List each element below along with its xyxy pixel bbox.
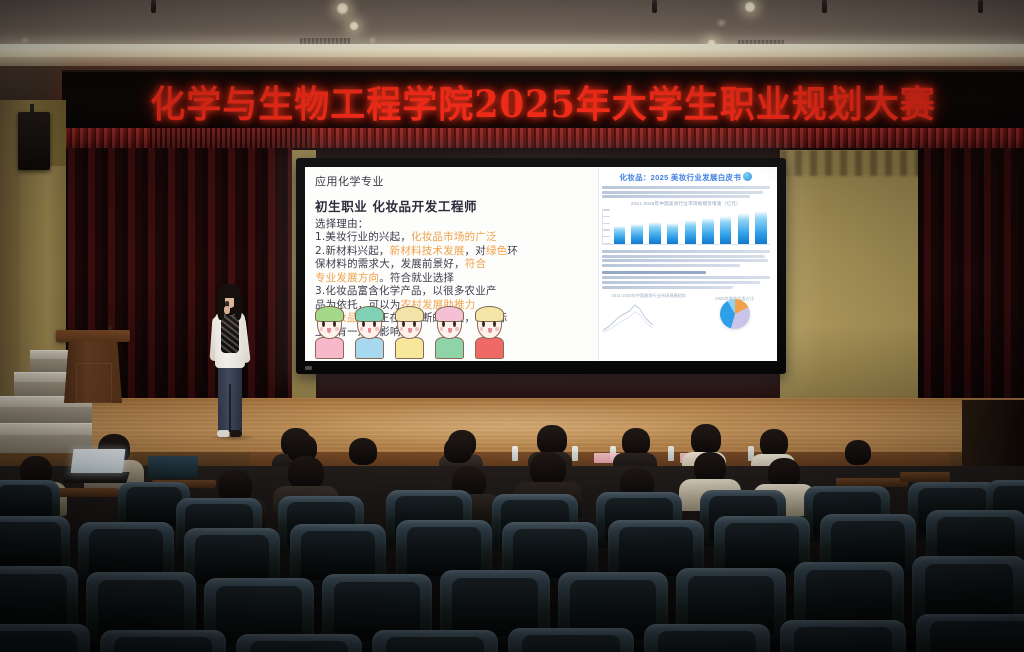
ceiling-cornice bbox=[0, 57, 1024, 66]
lectern-top bbox=[56, 330, 130, 342]
sprinkler-icon bbox=[151, 0, 156, 13]
bar-chart bbox=[602, 209, 770, 245]
wall-speaker bbox=[18, 112, 50, 170]
auditorium-seat[interactable] bbox=[780, 620, 906, 652]
cartoon-kid-green bbox=[433, 307, 466, 359]
stage-curtain-right bbox=[918, 148, 1024, 400]
sprinkler-icon bbox=[822, 0, 827, 13]
bar-2018 bbox=[631, 224, 643, 244]
slide-content: 应用化学专业 初生职业 化妆品开发工程师 选择理由： 1.美妆行业的兴起，化妆品… bbox=[305, 167, 777, 361]
slide-bullet-5: 3.化妆品富含化学产品，以很多农业产 bbox=[315, 285, 594, 298]
report-title: 化妆品：2025 美妆行业发展白皮书 bbox=[602, 172, 770, 183]
person-head bbox=[349, 438, 377, 465]
bullet-4-highlight: 专业发展方向 bbox=[315, 272, 379, 284]
display-indicator-led bbox=[305, 366, 312, 370]
ceiling-light-dim bbox=[20, 37, 30, 44]
pie-chart bbox=[720, 299, 750, 329]
lectern[interactable] bbox=[62, 330, 124, 412]
bar-2019 bbox=[649, 222, 661, 244]
report-paragraph bbox=[602, 281, 760, 284]
auditorium-seat[interactable] bbox=[0, 624, 90, 652]
sprinkler-icon bbox=[978, 0, 983, 13]
pie-chart-box: 2025年美妆品类占比 bbox=[701, 296, 768, 334]
person-head bbox=[444, 437, 472, 463]
person-head bbox=[288, 456, 324, 490]
person-head bbox=[845, 440, 871, 465]
cartoon-figures-row bbox=[313, 303, 506, 359]
presenter-vest bbox=[221, 315, 239, 353]
auditorium-seat[interactable] bbox=[644, 624, 770, 652]
slide-bullet-2: 2.新材料兴起，新材料技术发展，对绿色环 bbox=[315, 245, 594, 258]
bar-2022 bbox=[702, 218, 714, 245]
ceiling-light-dim bbox=[716, 19, 727, 27]
ceiling-light bbox=[744, 1, 756, 13]
cartoon-kid-pink bbox=[313, 307, 346, 359]
cartoon-kid-teal bbox=[353, 307, 386, 359]
presenter-leg-gap bbox=[229, 384, 231, 432]
report-paragraph bbox=[602, 191, 764, 194]
report-paragraph bbox=[602, 276, 770, 279]
person-head bbox=[537, 425, 567, 455]
report-badge-icon bbox=[743, 172, 752, 181]
presentation-display[interactable]: 应用化学专业 初生职业 化妆品开发工程师 选择理由： 1.美妆行业的兴起，化妆品… bbox=[296, 158, 786, 374]
bar-2025 bbox=[755, 211, 767, 245]
slide-bullet-4: 专业发展方向。符合就业选择 bbox=[315, 272, 594, 285]
slide-reason-label: 选择理由： bbox=[315, 218, 594, 231]
report-panel: 化妆品：2025 美妆行业发展白皮书 2021-2025年中国美妆行业市场规模及… bbox=[598, 167, 777, 361]
event-led-banner: 化学与生物工程学院2025年大学生职业规划大赛 bbox=[62, 70, 1024, 132]
auditorium-seat[interactable] bbox=[100, 630, 226, 652]
monitor bbox=[148, 456, 198, 478]
bar-chart-y-axis bbox=[603, 209, 613, 244]
person-head bbox=[691, 424, 721, 455]
report-paragraph bbox=[602, 186, 770, 189]
ceiling-light-strip bbox=[0, 44, 1024, 57]
bullet-2-highlight: 新材料技术发展 bbox=[390, 245, 465, 257]
auditorium-seat[interactable] bbox=[236, 634, 362, 652]
line-chart bbox=[602, 300, 655, 334]
bullet-2-post: ，对 bbox=[465, 245, 486, 257]
bullet-3-highlight: 符合 bbox=[465, 258, 486, 270]
sprinkler-icon bbox=[652, 0, 657, 13]
student-presenter bbox=[208, 284, 252, 442]
report-paragraph bbox=[602, 195, 750, 198]
slide-bullet-1: 1.美妆行业的兴起，化妆品市场的广泛 bbox=[315, 231, 594, 244]
cartoon-kid-red bbox=[473, 307, 506, 359]
bullet-2-text: 2.新材料兴起， bbox=[315, 245, 390, 257]
report-paragraph bbox=[602, 250, 770, 253]
slide-title: 应用化学专业 bbox=[315, 173, 594, 189]
slide-bullet-3: 保材料的需求大，发展前景好，符合 bbox=[315, 258, 594, 271]
auditorium-seat[interactable] bbox=[916, 614, 1024, 652]
report-paragraph bbox=[602, 286, 733, 289]
bar-2017 bbox=[614, 226, 626, 244]
line-chart-caption: 2021-2025年中国美妆行业市场规模趋势 bbox=[602, 293, 696, 299]
bullet-4-text: 。符合就业选择 bbox=[379, 272, 454, 284]
auditorium-scene: 化学与生物工程学院2025年大学生职业规划大赛 应用化学专业 初生职业 化妆品开… bbox=[0, 0, 1024, 652]
desk-ledge bbox=[900, 472, 950, 482]
water-bottle bbox=[668, 446, 674, 461]
report-title-text: 化妆品：2025 美妆行业发展白皮书 bbox=[619, 173, 741, 182]
audience-member bbox=[444, 437, 472, 463]
ceiling-light bbox=[336, 2, 349, 15]
presenter-shoe-right bbox=[230, 430, 242, 437]
bullet-2-highlight-2: 绿色 bbox=[486, 245, 507, 257]
person-head bbox=[622, 428, 650, 456]
slide-subtitle: 初生职业 化妆品开发工程师 bbox=[315, 196, 594, 215]
bullet-3-text: 保材料的需求大，发展前景好， bbox=[315, 258, 465, 270]
presenter-hand bbox=[224, 306, 230, 314]
person-head bbox=[530, 452, 566, 486]
audience-member bbox=[845, 440, 871, 465]
bar-2021 bbox=[685, 220, 697, 244]
report-paragraph bbox=[602, 259, 769, 262]
audience-member bbox=[349, 438, 377, 465]
lectern-front-panel bbox=[76, 363, 112, 403]
presenter-hair-side-right bbox=[234, 292, 242, 320]
cartoon-kid-yellow bbox=[393, 307, 426, 359]
report-section-heading bbox=[602, 271, 706, 274]
auditorium-seat[interactable] bbox=[508, 628, 634, 652]
laptop-screen bbox=[71, 449, 126, 473]
stage-backdrop-right bbox=[780, 150, 922, 400]
secondary-charts: 2021-2025年中国美妆行业市场规模趋势 2025年美妆品类占比 bbox=[602, 293, 770, 334]
person-head bbox=[760, 429, 788, 457]
bar-2024 bbox=[738, 213, 750, 244]
report-paragraph bbox=[602, 255, 765, 258]
laptop-keyboard bbox=[62, 472, 130, 483]
report-paragraph bbox=[602, 264, 740, 267]
banner-title: 化学与生物工程学院2025年大学生职业规划大赛 bbox=[150, 74, 935, 128]
auditorium-seat[interactable] bbox=[372, 630, 498, 652]
presenter-shoe-left bbox=[217, 430, 229, 437]
stage-pelmet-left bbox=[150, 128, 310, 150]
bar-2020 bbox=[667, 223, 679, 244]
laptop[interactable] bbox=[64, 449, 126, 483]
bar-chart-caption: 2021-2025年中国美妆行业市场规模及增速（亿元） bbox=[602, 201, 770, 207]
bullet-1-highlight: 化妆品市场的广泛 bbox=[411, 231, 497, 243]
ceiling-light-dim bbox=[368, 37, 377, 44]
slide-text-column: 应用化学专业 初生职业 化妆品开发工程师 选择理由： 1.美妆行业的兴起，化妆品… bbox=[305, 167, 598, 361]
bullet-2-post-2: 环 bbox=[507, 245, 518, 257]
water-bottle bbox=[512, 446, 518, 461]
ceiling-light bbox=[349, 21, 359, 31]
bar-2023 bbox=[720, 216, 732, 244]
bullet-1-text: 1.美妆行业的兴起， bbox=[315, 231, 411, 243]
lectern-body bbox=[64, 341, 122, 403]
